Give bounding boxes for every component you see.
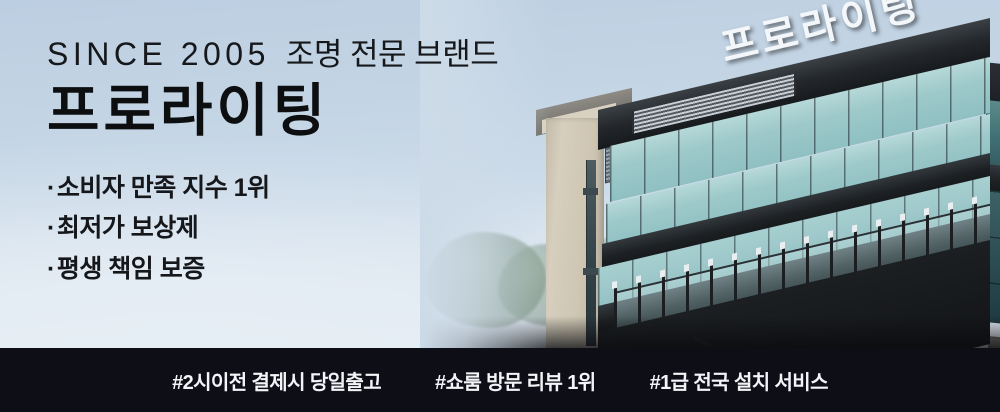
bullet-dot-icon: ·: [47, 214, 55, 242]
rooftop-sign-char: 팅: [877, 0, 921, 31]
page-title: 프로라이팅: [47, 82, 607, 142]
list-item: ·최저가 보상제: [47, 208, 607, 249]
photo-bottom-fade: [420, 316, 1000, 352]
list-item: ·평생 책임 보증: [47, 249, 607, 290]
rooftop-sign-char: 라: [797, 4, 841, 49]
kicker-since-text: SINCE 2005: [47, 38, 270, 70]
benefit-item-same-day-shipping[interactable]: #2시이전 결제시 당일출고: [172, 366, 381, 395]
bullet-dot-icon: ·: [47, 174, 55, 202]
headline-copy-block: SINCE 2005 조명 전문 브랜드 프로라이팅 ·소비자 만족 지수 1위…: [47, 38, 607, 305]
kicker-line: SINCE 2005 조명 전문 브랜드: [47, 38, 607, 70]
benefit-item-showroom-review[interactable]: #쇼룸 방문 리뷰 1위: [435, 366, 596, 395]
glass-building: [598, 84, 1000, 352]
benefits-bar: #2시이전 결제시 당일출고 #쇼룸 방문 리뷰 1위 #1급 전국 설치 서비…: [0, 348, 1000, 412]
rooftop-sign-char: 프: [717, 23, 761, 68]
kicker-korean-text: 조명 전문 브랜드: [286, 39, 498, 70]
bullet-text: 소비자 만족 지수 1위: [57, 174, 270, 202]
benefit-item-nationwide-install[interactable]: #1급 전국 설치 서비스: [650, 366, 828, 395]
promo-banner: 프 로 라 이 팅 SINCE 2005 조명 전문 브랜드 프로라이팅 ·소비…: [0, 0, 1000, 412]
list-item: ·소비자 만족 지수 1위: [47, 168, 607, 209]
bullet-text: 평생 책임 보증: [57, 255, 205, 283]
rooftop-sign-char: 로: [757, 14, 801, 59]
feature-bullet-list: ·소비자 만족 지수 1위 ·최저가 보상제 ·평생 책임 보증: [47, 168, 607, 290]
rooftop-sign-char: 이: [837, 0, 881, 40]
bullet-dot-icon: ·: [47, 255, 55, 283]
bullet-text: 최저가 보상제: [57, 214, 198, 242]
